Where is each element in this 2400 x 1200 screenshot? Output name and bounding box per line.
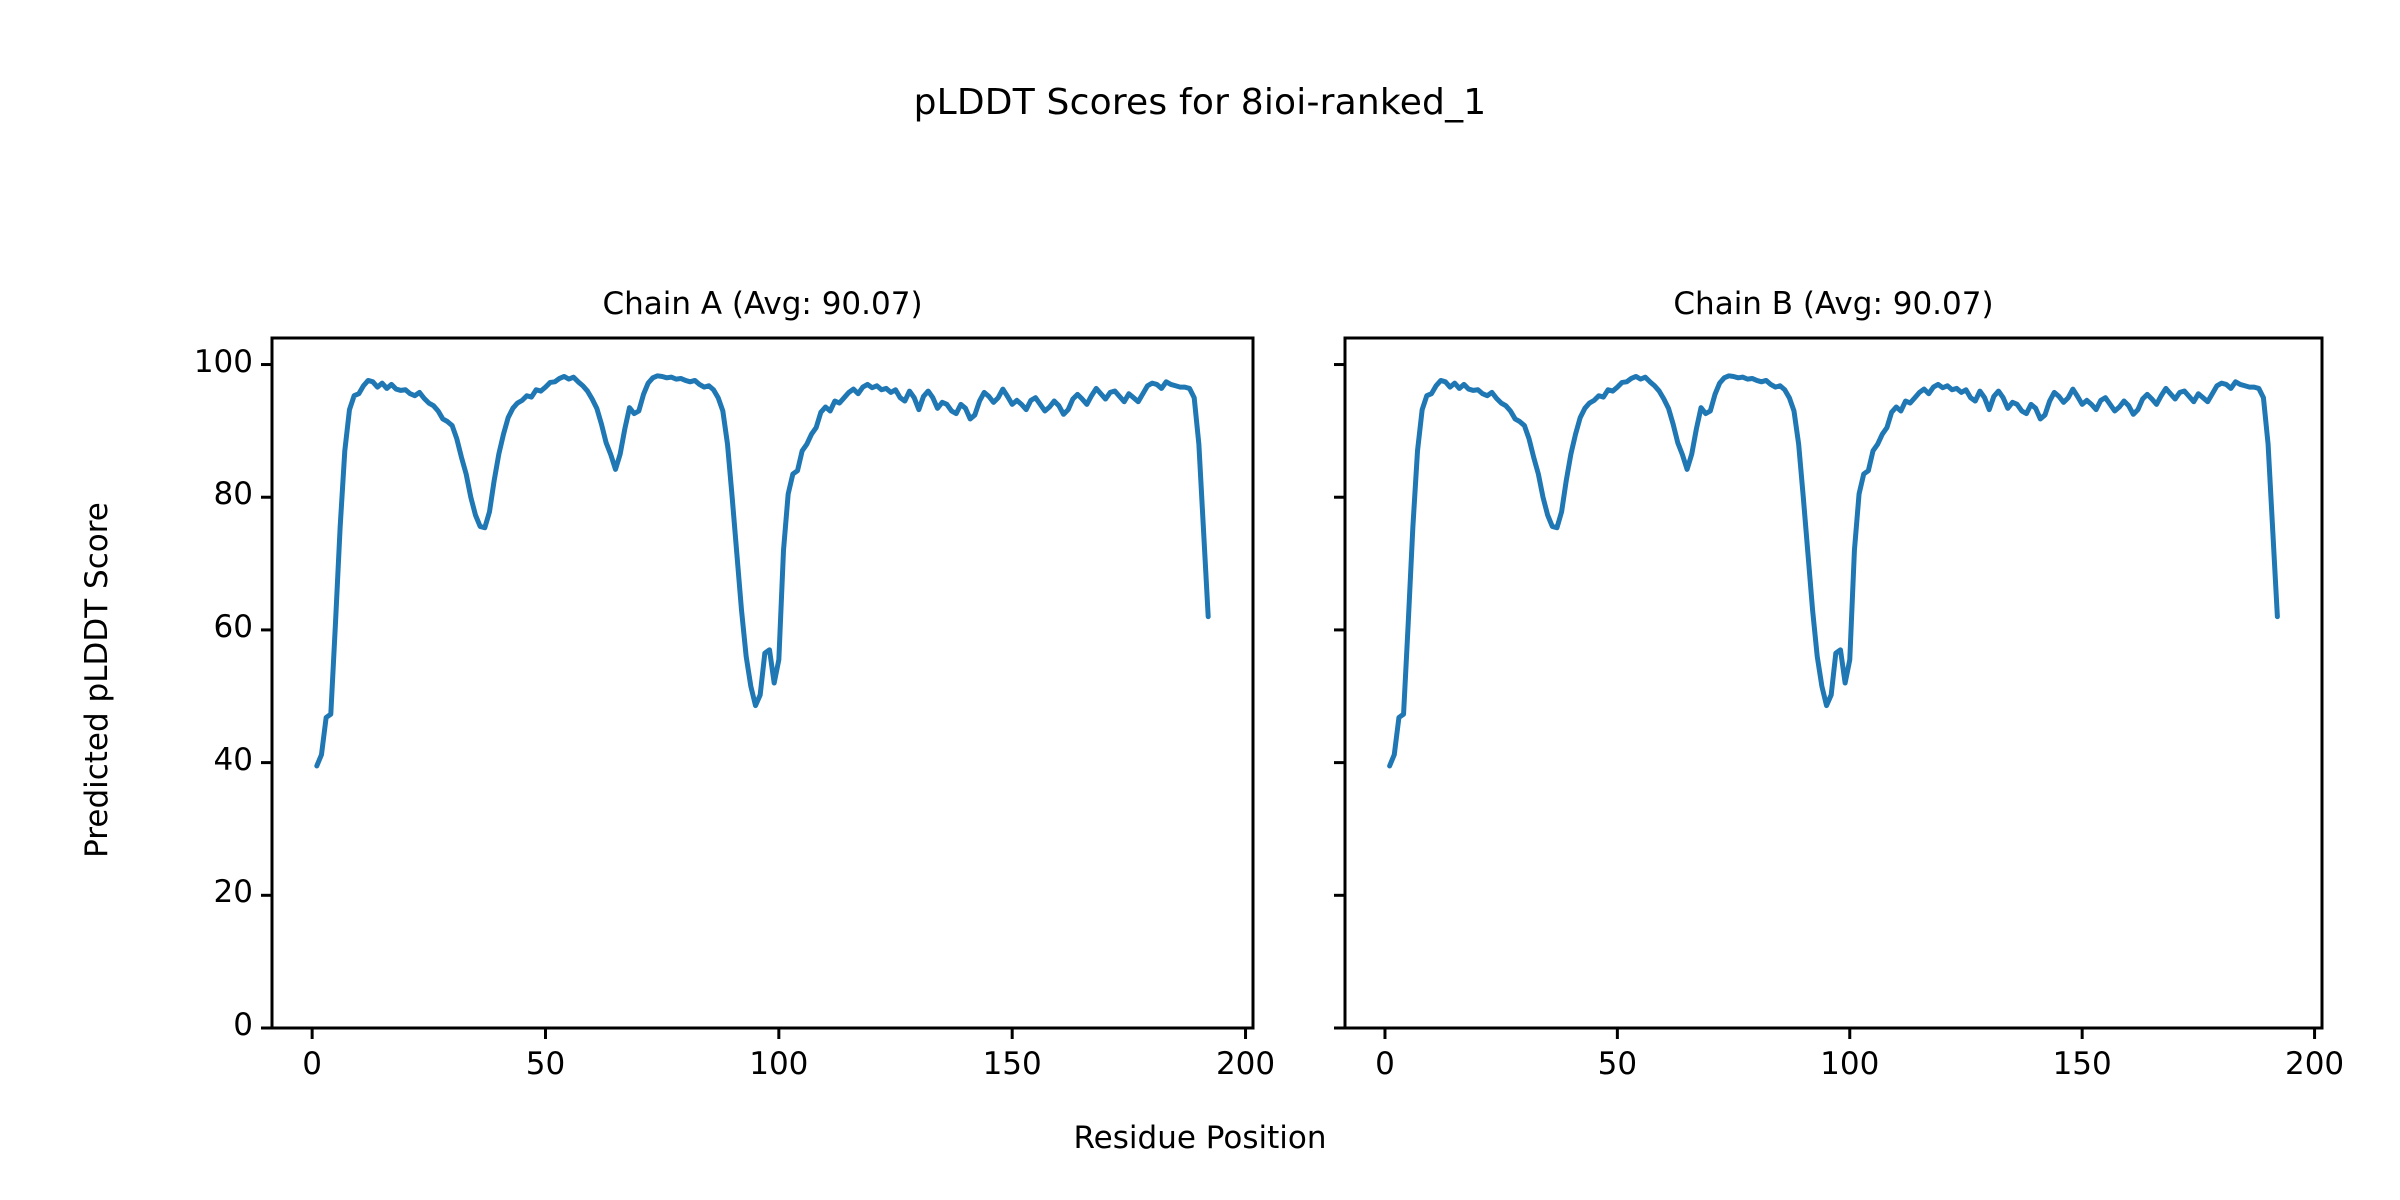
axes-spines bbox=[272, 338, 1253, 1028]
plot-vector-layer bbox=[0, 0, 2400, 1200]
axes-spines bbox=[1345, 338, 2322, 1028]
axes-title: Chain A (Avg: 90.07) bbox=[272, 286, 1253, 322]
y-tick-label: 80 bbox=[93, 476, 253, 512]
x-tick-label: 100 bbox=[1790, 1046, 1910, 1082]
axes-title: Chain B (Avg: 90.07) bbox=[1345, 286, 2322, 322]
x-tick-label: 200 bbox=[1186, 1046, 1306, 1082]
y-tick-label: 20 bbox=[93, 874, 253, 910]
y-tick-label: 100 bbox=[93, 344, 253, 380]
x-tick-label: 150 bbox=[2022, 1046, 2142, 1082]
y-tick-label: 40 bbox=[93, 742, 253, 778]
figure-suptitle: pLDDT Scores for 8ioi-ranked_1 bbox=[0, 82, 2400, 123]
x-tick-label: 50 bbox=[485, 1046, 605, 1082]
figure-canvas: pLDDT Scores for 8ioi-ranked_1 050100150… bbox=[0, 0, 2400, 1200]
x-tick-label: 50 bbox=[1557, 1046, 1677, 1082]
axes-chain-a bbox=[261, 338, 1253, 1039]
y-tick-label: 60 bbox=[93, 609, 253, 645]
x-tick-label: 150 bbox=[952, 1046, 1072, 1082]
x-tick-label: 200 bbox=[2255, 1046, 2375, 1082]
x-tick-label: 100 bbox=[719, 1046, 839, 1082]
series-line bbox=[317, 376, 1208, 766]
axes-chain-b bbox=[1334, 338, 2322, 1039]
x-tick-label: 0 bbox=[1325, 1046, 1445, 1082]
shared-x-axis-label: Residue Position bbox=[0, 1120, 2400, 1156]
x-tick-label: 0 bbox=[252, 1046, 372, 1082]
y-axis-label: Predicted pLDDT Score bbox=[79, 335, 115, 1025]
y-tick-label: 0 bbox=[93, 1007, 253, 1043]
series-line bbox=[1390, 376, 2278, 766]
